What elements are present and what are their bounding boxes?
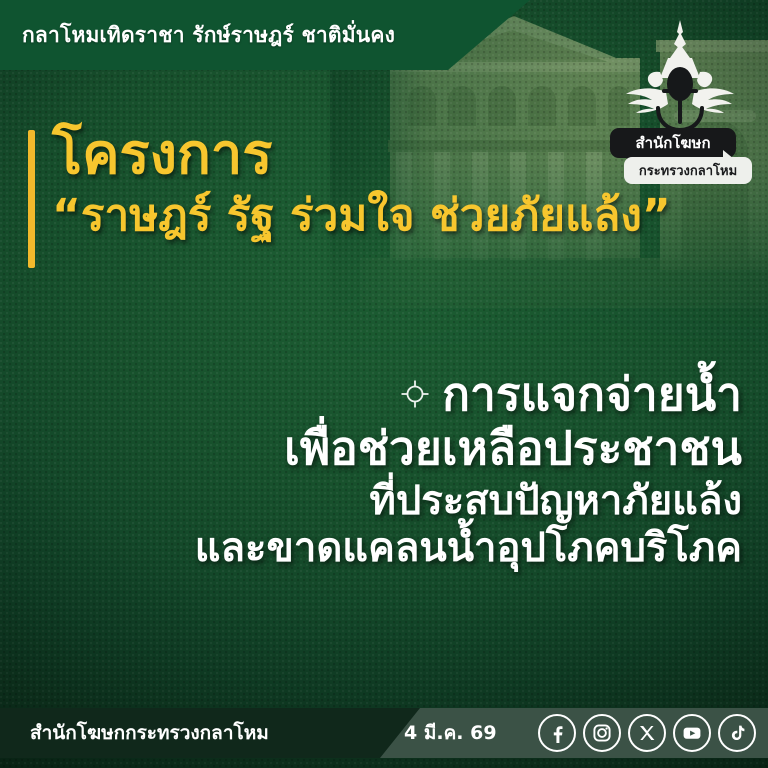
social-links [538, 708, 756, 758]
body-line-3: ที่ประสบปัญหาภัยแล้ง [22, 479, 742, 525]
banner-slogan: กลาโหมเทิดราชา รักษ์ราษฎร์ ชาติมั่นคง [22, 19, 395, 52]
accent-bar [28, 130, 35, 268]
body-line-1: การแจกจ่ายน้ำ [442, 368, 742, 420]
footer-organization: สำนักโฆษกกระทรวงกลาโหม [30, 708, 269, 758]
instagram-icon[interactable] [583, 714, 621, 752]
footer-date: 4 มี.ค. 69 [404, 708, 497, 758]
headline-block: โครงการ “ราษฎร์ รัฐ ร่วมใจ ช่วยภัยแล้ง” [28, 126, 688, 240]
crosshair-target-icon [400, 379, 430, 409]
top-banner: กลาโหมเทิดราชา รักษ์ราษฎร์ ชาติมั่นคง [0, 0, 530, 70]
tiktok-icon[interactable] [718, 714, 756, 752]
page-title: โครงการ [52, 126, 688, 185]
footer-bar: สำนักโฆษกกระทรวงกลาโหม 4 มี.ค. 69 [0, 708, 768, 758]
youtube-icon[interactable] [673, 714, 711, 752]
body-line-1-row: การแจกจ่ายน้ำ [22, 368, 742, 420]
page-subtitle: “ราษฎร์ รัฐ ร่วมใจ ช่วยภัยแล้ง” [52, 191, 688, 240]
x-twitter-icon[interactable] [628, 714, 666, 752]
body-line-4: และขาดแคลนน้ำอุปโภคบริโภค [22, 526, 742, 572]
body-line-2: เพื่อช่วยเหลือประชาชน [22, 422, 742, 474]
body-text-block: การแจกจ่ายน้ำ เพื่อช่วยเหลือประชาชน ที่ป… [22, 368, 742, 572]
poster-canvas: กลาโหมเทิดราชา รักษ์ราษฎร์ ชาติมั่นคง [0, 0, 768, 768]
ministry-of-defence-crest-icon [622, 18, 738, 136]
facebook-icon[interactable] [538, 714, 576, 752]
